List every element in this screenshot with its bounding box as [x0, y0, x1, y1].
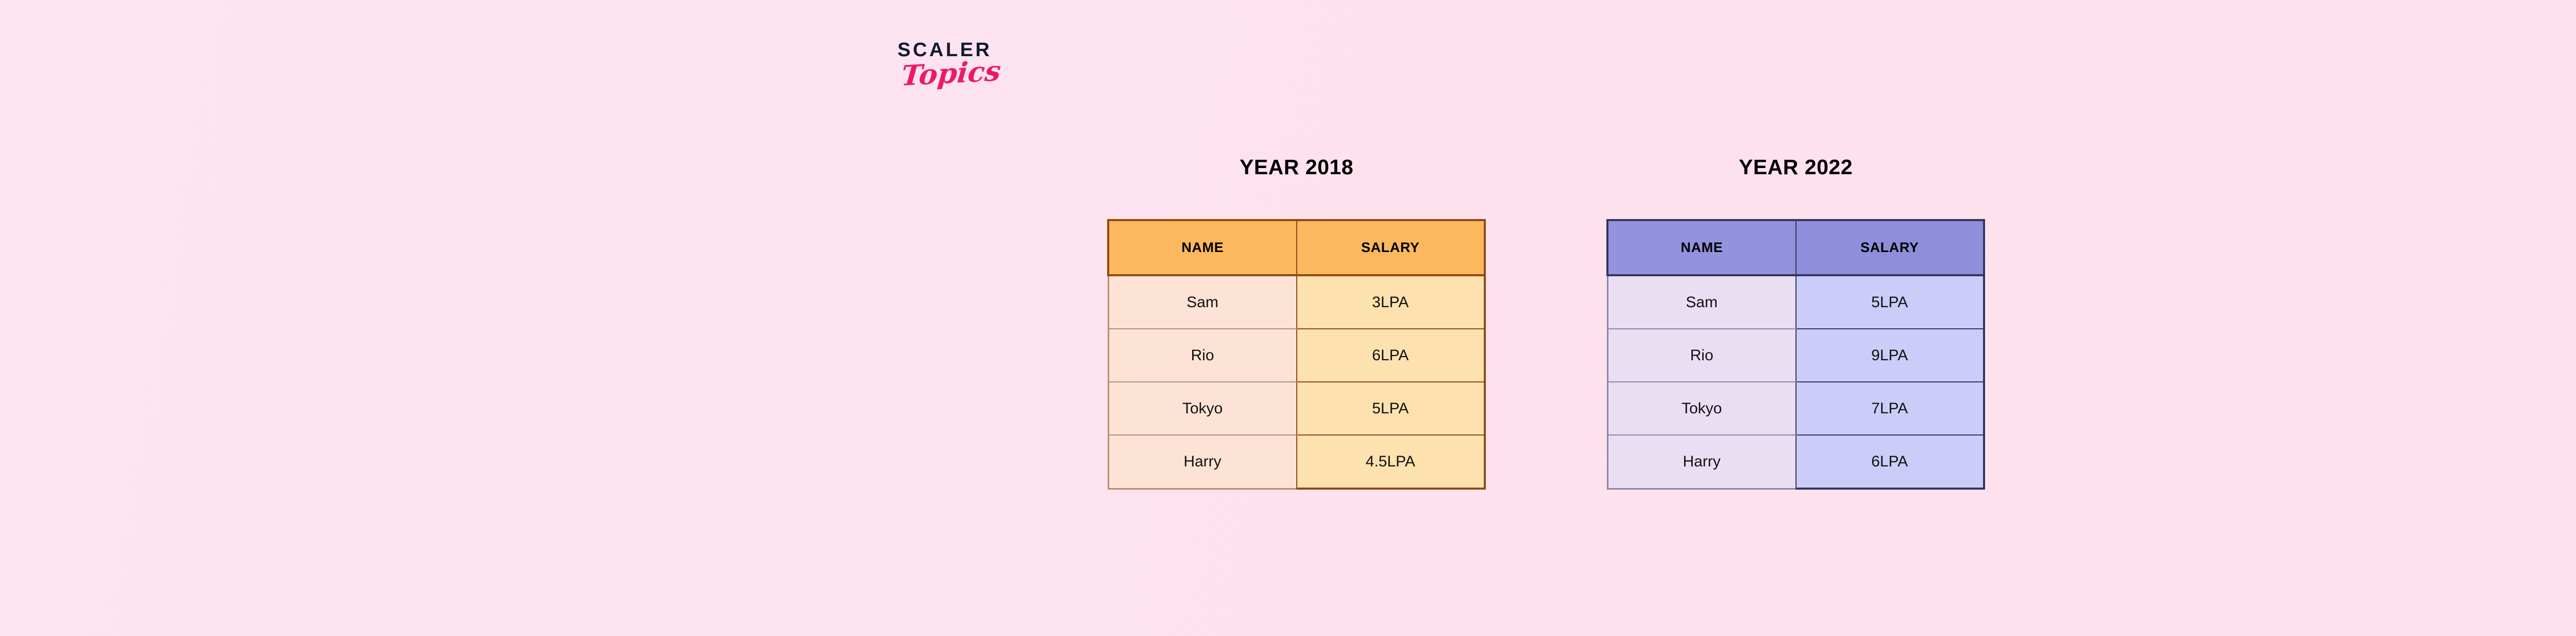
salary-table-year-2022: NAME SALARY Sam 5LPA Rio 9LPA Tokyo 7LPA…: [1606, 219, 1985, 490]
cell-salary: 4.5LPA: [1297, 435, 1485, 489]
cell-salary: 7LPA: [1796, 382, 1985, 435]
table-block-year-2022: YEAR 2022 NAME SALARY Sam 5LPA Rio 9LPA …: [1606, 155, 1985, 490]
cell-salary: 5LPA: [1796, 275, 1985, 329]
table-title-year-2018: YEAR 2018: [1107, 155, 1486, 183]
table-header-row: NAME SALARY: [1607, 220, 1984, 275]
table-row: Sam 5LPA: [1607, 275, 1984, 329]
table-header-year-2018: NAME SALARY: [1108, 220, 1485, 275]
table-body-year-2018: Sam 3LPA Rio 6LPA Tokyo 5LPA Harry 4.5LP…: [1108, 275, 1485, 489]
cell-name: Harry: [1607, 435, 1796, 489]
cell-name: Rio: [1607, 329, 1796, 382]
cell-salary: 3LPA: [1297, 275, 1485, 329]
cell-salary: 6LPA: [1297, 329, 1485, 382]
column-header-name: NAME: [1108, 220, 1297, 275]
table-row: Sam 3LPA: [1108, 275, 1485, 329]
table-row: Harry 6LPA: [1607, 435, 1984, 489]
cell-name: Tokyo: [1607, 382, 1796, 435]
table-row: Tokyo 5LPA: [1108, 382, 1485, 435]
scaler-topics-logo: SCALER Topics: [897, 40, 1031, 112]
salary-table-year-2018: NAME SALARY Sam 3LPA Rio 6LPA Tokyo 5LPA…: [1107, 219, 1486, 490]
logo-script-topics: Topics: [900, 55, 1032, 90]
table-body-year-2022: Sam 5LPA Rio 9LPA Tokyo 7LPA Harry 6LPA: [1607, 275, 1984, 489]
cell-salary: 9LPA: [1796, 329, 1985, 382]
table-title-year-2022: YEAR 2022: [1606, 155, 1985, 183]
table-row: Rio 6LPA: [1108, 329, 1485, 382]
table-row: Harry 4.5LPA: [1108, 435, 1485, 489]
cell-salary: 6LPA: [1796, 435, 1985, 489]
table-block-year-2018: YEAR 2018 NAME SALARY Sam 3LPA Rio 6LPA …: [1107, 155, 1486, 490]
column-header-salary: SALARY: [1796, 220, 1985, 275]
cell-name: Sam: [1607, 275, 1796, 329]
table-header-row: NAME SALARY: [1108, 220, 1485, 275]
cell-name: Tokyo: [1108, 382, 1297, 435]
table-header-year-2022: NAME SALARY: [1607, 220, 1984, 275]
cell-name: Sam: [1108, 275, 1297, 329]
cell-name: Rio: [1108, 329, 1297, 382]
column-header-salary: SALARY: [1297, 220, 1485, 275]
table-row: Tokyo 7LPA: [1607, 382, 1984, 435]
column-header-name: NAME: [1607, 220, 1796, 275]
table-row: Rio 9LPA: [1607, 329, 1984, 382]
cell-name: Harry: [1108, 435, 1297, 489]
cell-salary: 5LPA: [1297, 382, 1485, 435]
